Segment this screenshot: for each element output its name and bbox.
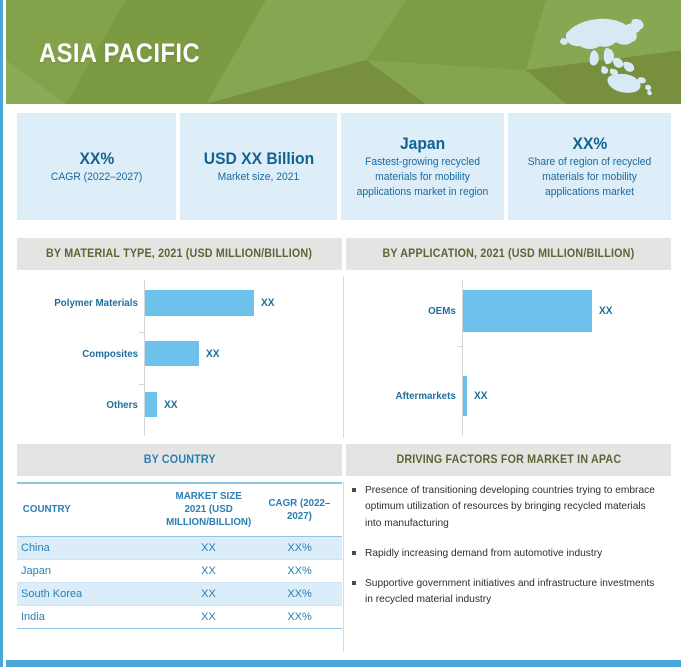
cell-market-size: XX xyxy=(160,583,257,606)
bar-value-label: XX xyxy=(164,399,178,411)
driving-factors-list: Presence of transitioning developing cou… xyxy=(352,482,670,622)
cell-cagr: XX% xyxy=(257,560,342,583)
kpi-label: Share of region of recycled materials fo… xyxy=(520,155,658,200)
asia-pacific-map-icon xyxy=(548,12,660,96)
table-row: South Korea XX XX% xyxy=(17,583,342,606)
bar-value-label: XX xyxy=(599,305,613,317)
cell-market-size: XX xyxy=(160,606,257,629)
kpi-label: Market size, 2021 xyxy=(218,170,300,185)
section-header-label: BY MATERIAL TYPE, 2021 (USD MILLION/BILL… xyxy=(46,248,312,260)
kpi-card-cagr: XX% CAGR (2022–2027) xyxy=(17,113,176,220)
axis-tick xyxy=(139,332,144,333)
driver-text: Presence of transitioning developing cou… xyxy=(365,482,661,531)
table-header-row: COUNTRY MARKET SIZE 2021 (USD MILLION/BI… xyxy=(17,483,342,537)
bar-others xyxy=(145,392,157,417)
kpi-value: XX% xyxy=(79,148,114,169)
section-header-label: DRIVING FACTORS FOR MARKET IN APAC xyxy=(396,454,621,466)
bar-value-label: XX xyxy=(206,348,220,360)
cell-cagr: XX% xyxy=(257,583,342,606)
bar-polymer-materials xyxy=(145,290,254,316)
section-header-drivers: DRIVING FACTORS FOR MARKET IN APAC xyxy=(346,444,671,476)
kpi-value: XX% xyxy=(572,133,607,154)
country-table: COUNTRY MARKET SIZE 2021 (USD MILLION/BI… xyxy=(17,482,342,629)
cell-country: South Korea xyxy=(17,583,160,606)
bar-row-composites: Composites XX xyxy=(145,341,221,366)
bar-category-label: Polymer Materials xyxy=(54,297,138,309)
bar-value-label: XX xyxy=(474,390,488,402)
driver-text: Supportive government initiatives and in… xyxy=(365,575,661,608)
axis-tick xyxy=(139,384,144,385)
cell-cagr: XX% xyxy=(257,606,342,629)
chart-application: OEMs XX Aftermarkets XX xyxy=(346,276,671,438)
column-header-label: CAGR (2022–2027) xyxy=(262,497,337,523)
page-title: ASIA PACIFIC xyxy=(39,38,200,69)
cell-market-size: XX xyxy=(160,537,257,560)
column-header-label: MARKET SIZE 2021 (USD MILLION/BILLION) xyxy=(165,490,252,529)
bar-category-label: Others xyxy=(107,399,138,411)
bar-category-label: Aftermarkets xyxy=(396,390,456,402)
table-row: China XX XX% xyxy=(17,537,342,560)
axis-tick xyxy=(457,346,462,347)
region-banner: ASIA PACIFIC xyxy=(6,0,681,104)
kpi-label: CAGR (2022–2027) xyxy=(51,170,142,185)
square-bullet-icon xyxy=(352,551,356,555)
column-header-cagr: CAGR (2022–2027) xyxy=(257,483,342,537)
table-row: Japan XX XX% xyxy=(17,560,342,583)
kpi-label: Fastest-growing recycled materials for m… xyxy=(353,155,491,200)
panel-divider xyxy=(343,276,344,438)
cell-market-size: XX xyxy=(160,560,257,583)
section-header-label: BY APPLICATION, 2021 (USD MILLION/BILLIO… xyxy=(383,248,635,260)
section-header-country: BY COUNTRY xyxy=(17,444,342,476)
section-header-row-details: BY COUNTRY DRIVING FACTORS FOR MARKET IN… xyxy=(17,444,671,476)
infographic-page: ASIA PACIFIC XX% CAGR (2022–2027) USD XX… xyxy=(0,0,681,667)
section-header-application: BY APPLICATION, 2021 (USD MILLION/BILLIO… xyxy=(346,238,671,270)
bar-oems xyxy=(463,290,592,332)
kpi-value: Japan xyxy=(400,133,445,154)
cell-country: Japan xyxy=(17,560,160,583)
driver-text: Rapidly increasing demand from automotiv… xyxy=(365,545,602,561)
bar-row-aftermarkets: Aftermarkets XX xyxy=(463,376,489,416)
section-header-label: BY COUNTRY xyxy=(144,454,216,466)
bar-row-oems: OEMs XX xyxy=(463,290,614,332)
section-header-row-charts: BY MATERIAL TYPE, 2021 (USD MILLION/BILL… xyxy=(17,238,671,270)
bottom-accent-bar xyxy=(6,660,681,667)
list-item: Presence of transitioning developing cou… xyxy=(352,482,670,531)
section-header-material-type: BY MATERIAL TYPE, 2021 (USD MILLION/BILL… xyxy=(17,238,342,270)
bar-value-label: XX xyxy=(261,297,275,309)
kpi-card-fastest-growing: Japan Fastest-growing recycled materials… xyxy=(341,113,504,220)
list-item: Rapidly increasing demand from automotiv… xyxy=(352,545,670,561)
column-header-market-size: MARKET SIZE 2021 (USD MILLION/BILLION) xyxy=(160,483,257,537)
panel-divider-lower xyxy=(343,482,344,652)
bar-category-label: Composites xyxy=(82,348,138,360)
bar-category-label: OEMs xyxy=(428,305,456,317)
bar-row-others: Others XX xyxy=(145,392,179,417)
list-item: Supportive government initiatives and in… xyxy=(352,575,670,608)
kpi-card-market-size: USD XX Billion Market size, 2021 xyxy=(180,113,337,220)
column-header-country: COUNTRY xyxy=(17,483,160,537)
chart-material-type: Polymer Materials XX Composites XX Other… xyxy=(17,276,342,438)
country-table-wrapper: COUNTRY MARKET SIZE 2021 (USD MILLION/BI… xyxy=(17,482,342,629)
table-header: COUNTRY MARKET SIZE 2021 (USD MILLION/BI… xyxy=(17,483,342,537)
bar-row-polymer-materials: Polymer Materials XX xyxy=(145,290,276,316)
bar-composites xyxy=(145,341,199,366)
square-bullet-icon xyxy=(352,488,356,492)
square-bullet-icon xyxy=(352,581,356,585)
kpi-value: USD XX Billion xyxy=(203,148,313,169)
cell-cagr: XX% xyxy=(257,537,342,560)
column-header-label: COUNTRY xyxy=(23,503,71,516)
table-row: India XX XX% xyxy=(17,606,342,629)
bar-aftermarkets xyxy=(463,376,467,416)
cell-country: China xyxy=(17,537,160,560)
kpi-card-row: XX% CAGR (2022–2027) USD XX Billion Mark… xyxy=(17,113,671,220)
cell-country: India xyxy=(17,606,160,629)
kpi-card-region-share: XX% Share of region of recycled material… xyxy=(508,113,671,220)
table-body: China XX XX% Japan XX XX% South Korea XX… xyxy=(17,537,342,629)
